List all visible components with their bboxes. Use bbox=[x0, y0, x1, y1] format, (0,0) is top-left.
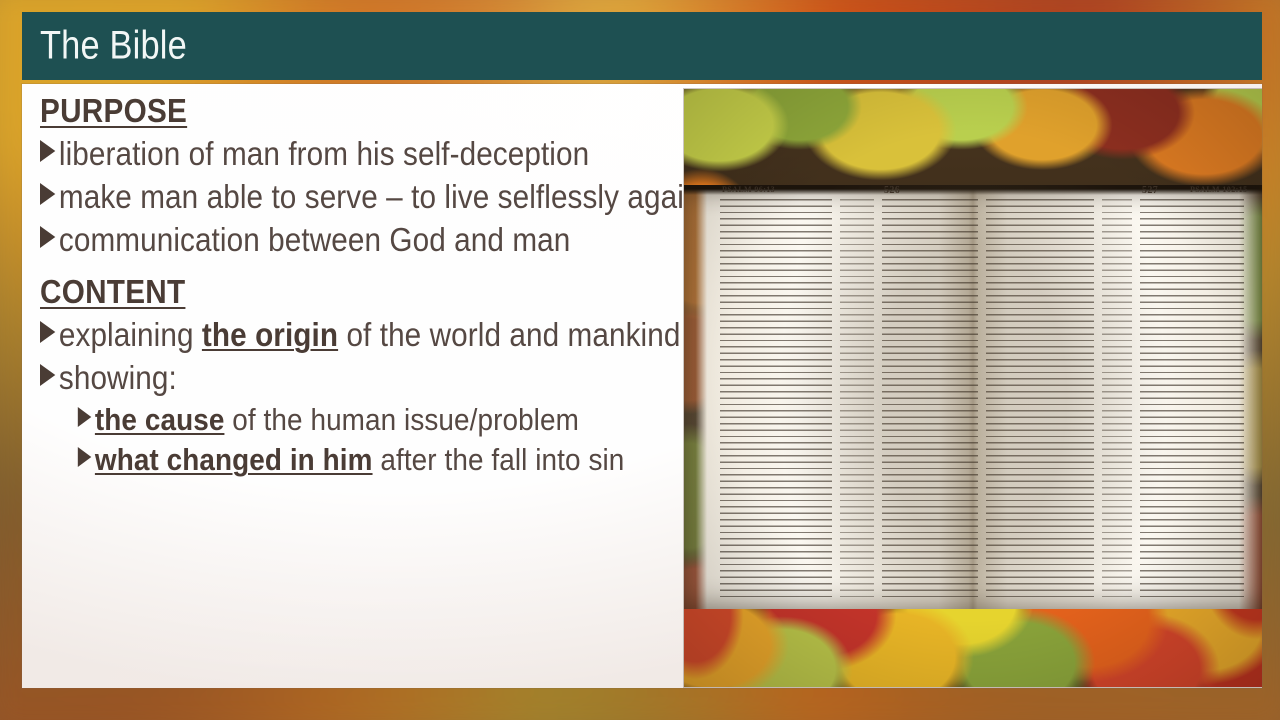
section-heading-content: CONTENT bbox=[40, 271, 616, 313]
list-item-label: the cause of the human issue/problem bbox=[95, 400, 579, 440]
triangle-bullet-icon bbox=[40, 140, 55, 162]
page-text-column bbox=[840, 199, 874, 597]
page-text-column bbox=[720, 199, 832, 597]
triangle-bullet-icon bbox=[78, 407, 92, 427]
page-text-column bbox=[1140, 199, 1244, 597]
list-item: liberation of man from his self-deceptio… bbox=[40, 133, 616, 176]
page-number-left: 526 bbox=[884, 185, 900, 196]
list-item-suffix: of the human issue/problem bbox=[224, 402, 578, 437]
open-book: PSALM 96:13 526 527 PSALM 102:15 bbox=[684, 185, 1262, 609]
list-item-label: explaining the origin of the world and m… bbox=[59, 314, 681, 357]
list-item-emphasis: what changed in him bbox=[95, 442, 373, 477]
page-text-column bbox=[986, 199, 1094, 597]
list-item: what changed in him after the fall into … bbox=[40, 440, 616, 480]
list-item-label: communication between God and man bbox=[59, 219, 570, 262]
list-item-emphasis: the cause bbox=[95, 402, 225, 437]
list-item-suffix: after the fall into sin bbox=[373, 442, 625, 477]
list-item-emphasis: the origin bbox=[202, 316, 338, 353]
list-item: make man able to serve – to live selfles… bbox=[40, 176, 616, 219]
triangle-bullet-icon bbox=[40, 321, 55, 343]
slide: The Bible PURPOSE liberation of man from… bbox=[0, 0, 1280, 720]
list-item: explaining the origin of the world and m… bbox=[40, 314, 616, 357]
page-text-column bbox=[882, 199, 978, 597]
list-item-suffix: of the world and mankind bbox=[338, 316, 680, 353]
bullet-text-column: PURPOSE liberation of man from his self-… bbox=[40, 90, 680, 481]
list-item: showing: bbox=[40, 357, 616, 400]
triangle-bullet-icon bbox=[40, 226, 55, 248]
page-number-right: 527 bbox=[1142, 185, 1158, 196]
list-item-label: what changed in him after the fall into … bbox=[95, 440, 624, 480]
section-heading-purpose: PURPOSE bbox=[40, 90, 616, 132]
list-item-label: liberation of man from his self-deceptio… bbox=[59, 133, 589, 176]
triangle-bullet-icon bbox=[40, 364, 55, 386]
page-header-right: PSALM 102:15 bbox=[1190, 185, 1247, 194]
content-panel: PURPOSE liberation of man from his self-… bbox=[22, 84, 1262, 688]
list-item: communication between God and man bbox=[40, 219, 616, 262]
list-item-label: make man able to serve – to live selfles… bbox=[59, 176, 701, 219]
triangle-bullet-icon bbox=[40, 183, 55, 205]
page-text-column bbox=[1102, 199, 1132, 597]
page-header-left: PSALM 96:13 bbox=[722, 185, 775, 194]
page-title: The Bible bbox=[40, 24, 187, 69]
list-item-label: showing: bbox=[59, 357, 177, 400]
title-bar: The Bible bbox=[22, 12, 1262, 80]
list-item-prefix: explaining bbox=[59, 316, 202, 353]
triangle-bullet-icon bbox=[78, 447, 92, 467]
list-item: the cause of the human issue/problem bbox=[40, 400, 616, 440]
bible-photo: PSALM 96:13 526 527 PSALM 102:15 bbox=[684, 89, 1262, 687]
